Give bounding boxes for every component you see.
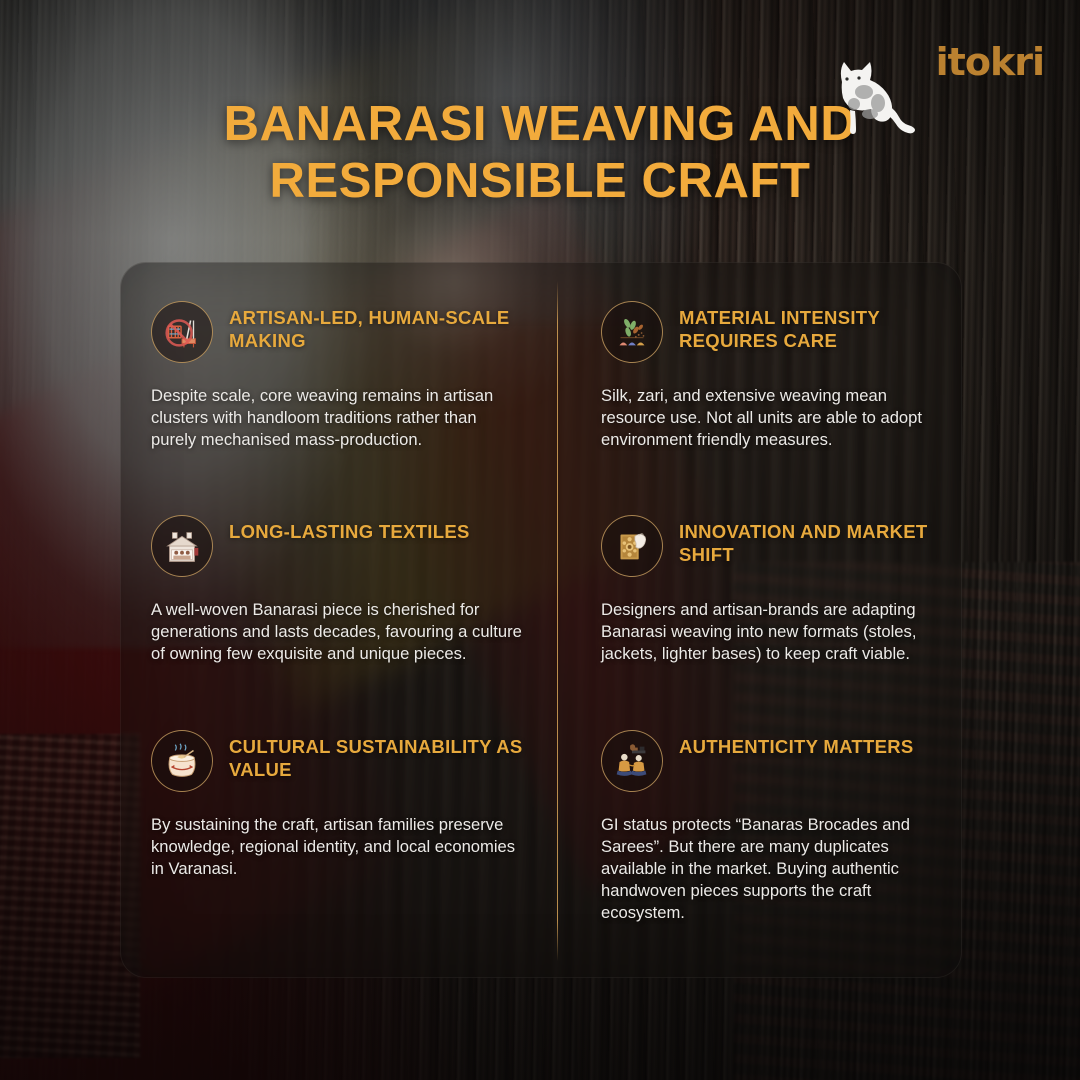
point-header: INNOVATION AND MARKET SHIFT: [601, 515, 945, 577]
content-panel: ARTISAN-LED, HUMAN-SCALE MAKING Despite …: [120, 262, 962, 978]
infographic-canvas: BANARASI WEAVING AND RESPONSIBLE CRAFT: [0, 0, 1080, 1080]
page-title-line-2: RESPONSIBLE CRAFT: [110, 153, 970, 210]
point-title: INNOVATION AND MARKET SHIFT: [679, 515, 945, 566]
cat-mascot-icon: [820, 48, 930, 138]
point-body: GI status protects “Banaras Brocades and…: [601, 814, 945, 924]
point-material-intensity: MATERIAL INTENSITY REQUIRES CARE Silk, z…: [557, 263, 963, 477]
point-cultural-sustainability: CULTURAL SUSTAINABILITY AS VALUE By sust…: [121, 692, 557, 979]
natural-dye-leaves-icon: [601, 301, 663, 363]
point-body: Designers and artisan-brands are adaptin…: [601, 599, 945, 665]
hand-holding-brocade-icon: [601, 515, 663, 577]
point-body: By sustaining the craft, artisan familie…: [151, 814, 523, 880]
point-header: ARTISAN-LED, HUMAN-SCALE MAKING: [151, 301, 523, 363]
point-header: CULTURAL SUSTAINABILITY AS VALUE: [151, 730, 523, 792]
header: BANARASI WEAVING AND RESPONSIBLE CRAFT: [0, 0, 1080, 250]
point-header: LONG-LASTING TEXTILES: [151, 515, 523, 577]
point-long-lasting-textiles: LONG-LASTING TEXTILES A well-woven Banar…: [121, 477, 557, 692]
point-innovation-market-shift: INNOVATION AND MARKET SHIFT Designers an…: [557, 477, 963, 692]
point-body: Silk, zari, and extensive weaving mean r…: [601, 385, 945, 451]
page-title-line-1: BANARASI WEAVING AND: [224, 97, 857, 151]
point-artisan-led: ARTISAN-LED, HUMAN-SCALE MAKING Despite …: [121, 263, 557, 477]
no-power-loom-icon: [151, 301, 213, 363]
steaming-dye-pot-icon: [151, 730, 213, 792]
brand-logo[interactable]: itokri: [936, 40, 1044, 84]
point-header: MATERIAL INTENSITY REQUIRES CARE: [601, 301, 945, 363]
point-title: AUTHENTICITY MATTERS: [679, 730, 914, 759]
point-title: ARTISAN-LED, HUMAN-SCALE MAKING: [229, 301, 523, 352]
point-title: CULTURAL SUSTAINABILITY AS VALUE: [229, 730, 523, 781]
points-grid: ARTISAN-LED, HUMAN-SCALE MAKING Despite …: [121, 263, 963, 979]
point-title: MATERIAL INTENSITY REQUIRES CARE: [679, 301, 945, 352]
two-seated-artisans-icon: [601, 730, 663, 792]
point-header: AUTHENTICITY MATTERS: [601, 730, 945, 792]
point-body: A well-woven Banarasi piece is cherished…: [151, 599, 523, 665]
point-body: Despite scale, core weaving remains in a…: [151, 385, 523, 451]
point-title: LONG-LASTING TEXTILES: [229, 515, 470, 544]
craft-shop-icon: [151, 515, 213, 577]
point-authenticity-matters: AUTHENTICITY MATTERS GI status protects …: [557, 692, 963, 979]
